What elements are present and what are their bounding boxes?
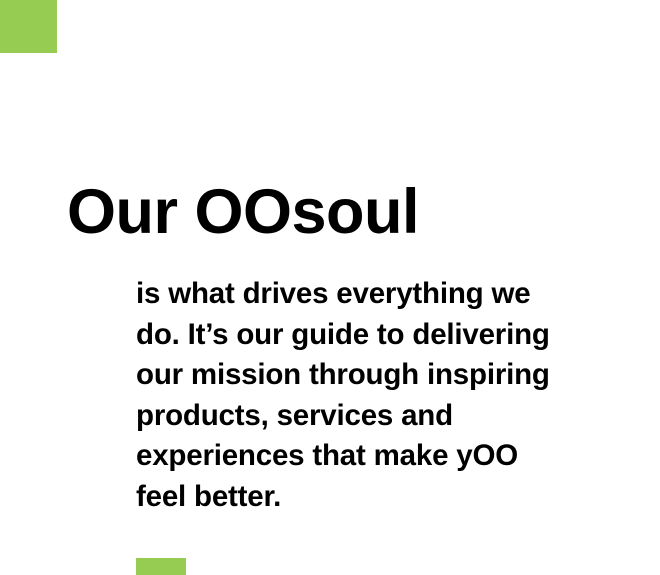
- body-line: experiences that make yOO: [136, 436, 660, 477]
- body-line: is what drives everything we: [136, 274, 660, 315]
- poster-page: Our OOsoul is what drives everything we …: [0, 0, 660, 575]
- body-line: do. It’s our guide to delivering: [136, 315, 660, 356]
- page-title: Our OOsoul: [67, 178, 419, 246]
- body-copy: is what drives everything we do. It’s ou…: [136, 274, 660, 517]
- body-line: our mission through inspiring: [136, 355, 660, 396]
- body-line: feel better.: [136, 477, 660, 518]
- green-bar-decoration: [136, 558, 186, 575]
- body-line: products, services and: [136, 396, 660, 437]
- green-square-decoration: [0, 0, 57, 53]
